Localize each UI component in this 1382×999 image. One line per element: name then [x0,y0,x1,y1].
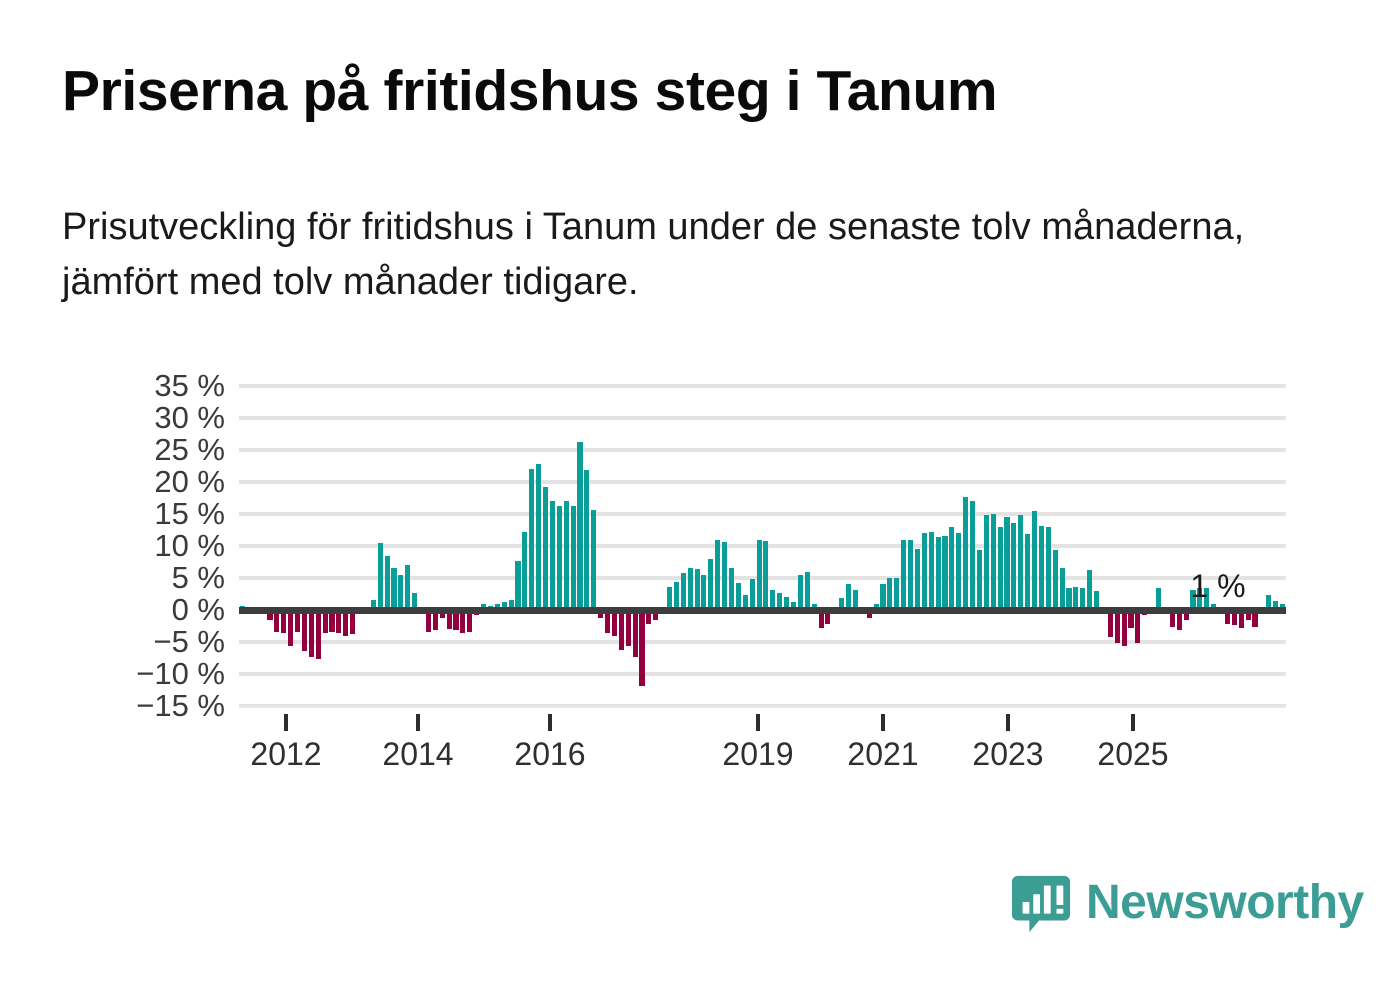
y-axis-tick-label: 0 % [100,592,225,628]
bar [1039,526,1044,610]
bar [805,572,810,610]
x-axis-tick [881,714,885,731]
bar [639,610,644,686]
bar [956,533,961,610]
bar [1046,527,1051,610]
bar [626,610,631,646]
bar-series [239,386,1286,706]
bar [701,575,706,610]
bar [536,464,541,610]
bar [970,501,975,610]
bar [922,533,927,610]
bar [522,532,527,610]
brand-name: Newsworthy [1086,879,1364,927]
bar [584,470,589,610]
x-axis-tick-label: 2014 [382,736,453,773]
x-axis-tick [1006,714,1010,731]
bar [681,573,686,610]
bar [1087,570,1092,610]
bar [577,442,582,610]
x-axis: 2012201420162019202120232025 [239,706,1286,776]
y-axis-tick-label: 20 % [100,464,225,500]
bar [729,568,734,610]
bar [591,510,596,610]
bar [398,575,403,610]
bar [564,501,569,610]
x-axis-tick-label: 2021 [847,736,918,773]
bar [633,610,638,657]
bar [715,540,720,610]
bar-chart: 35 %30 %25 %20 %15 %10 %5 %0 %−5 %−10 %−… [0,360,1382,780]
bar [619,610,624,650]
bar [674,582,679,610]
y-axis-tick-label: 25 % [100,432,225,468]
y-axis-tick-label: 10 % [100,528,225,564]
bar [405,565,410,610]
bar [936,537,941,610]
bar [763,541,768,610]
bar [963,497,968,610]
bar [929,532,934,610]
x-axis-tick [1131,714,1135,731]
bar [1060,568,1065,610]
bar [949,527,954,610]
chart-subtitle: Prisutveckling för fritidshus i Tanum un… [62,200,1332,310]
bar [1018,515,1023,610]
last-value-annotation: 1 % [1190,568,1245,605]
bar [302,610,307,651]
bar [309,610,314,657]
bar [1032,511,1037,610]
y-axis-tick-label: 5 % [100,560,225,596]
newsworthy-bubble-barchart-icon [1010,872,1072,934]
bar [391,568,396,610]
bar [316,610,321,659]
bar [1011,523,1016,610]
bar [1004,517,1009,610]
bar [894,578,899,610]
bar [1053,550,1058,610]
newsworthy-logo[interactable]: Newsworthy [1010,872,1364,934]
bar [942,536,947,610]
bar [385,556,390,610]
bar [887,578,892,610]
bar [288,610,293,646]
bar [529,469,534,610]
x-axis-tick [284,714,288,731]
y-axis-tick-label: −15 % [100,688,225,724]
y-axis-tick-label: −5 % [100,624,225,660]
bar [708,559,713,610]
bar [901,540,906,610]
bar [557,506,562,610]
bar [543,487,548,610]
y-axis-tick-label: 15 % [100,496,225,532]
x-axis-tick [756,714,760,731]
bar [1122,610,1127,646]
y-axis-tick-label: 30 % [100,400,225,436]
y-axis-tick-label: 35 % [100,368,225,404]
x-axis-tick-label: 2023 [972,736,1043,773]
bar [1115,610,1120,643]
infographic-page: Priserna på fritidshus steg i Tanum Pris… [0,0,1382,999]
plot-area: 1 % [239,386,1286,706]
x-axis-tick [416,714,420,731]
bar [378,543,383,610]
bar [515,561,520,610]
x-axis-baseline [239,706,1286,708]
y-axis-tick-label: −10 % [100,656,225,692]
bar [998,527,1003,610]
bar [695,569,700,610]
bar [722,542,727,610]
bar [984,515,989,610]
zero-baseline [239,607,1286,614]
bar [571,506,576,610]
x-axis-tick-label: 2016 [514,736,585,773]
bar [750,579,755,610]
bar [798,575,803,610]
bar [1108,610,1113,637]
bar [991,514,996,610]
bar [688,568,693,610]
x-axis-tick-label: 2025 [1097,736,1168,773]
bar [736,583,741,610]
page-title: Priserna på fritidshus steg i Tanum [62,62,1312,122]
x-axis-tick [548,714,552,731]
x-axis-tick-label: 2012 [250,736,321,773]
bar [908,540,913,610]
bar [915,549,920,610]
bar [1025,534,1030,610]
bar [1135,610,1140,643]
bar [757,540,762,610]
bar [550,501,555,610]
x-axis-tick-label: 2019 [722,736,793,773]
bar [977,550,982,610]
